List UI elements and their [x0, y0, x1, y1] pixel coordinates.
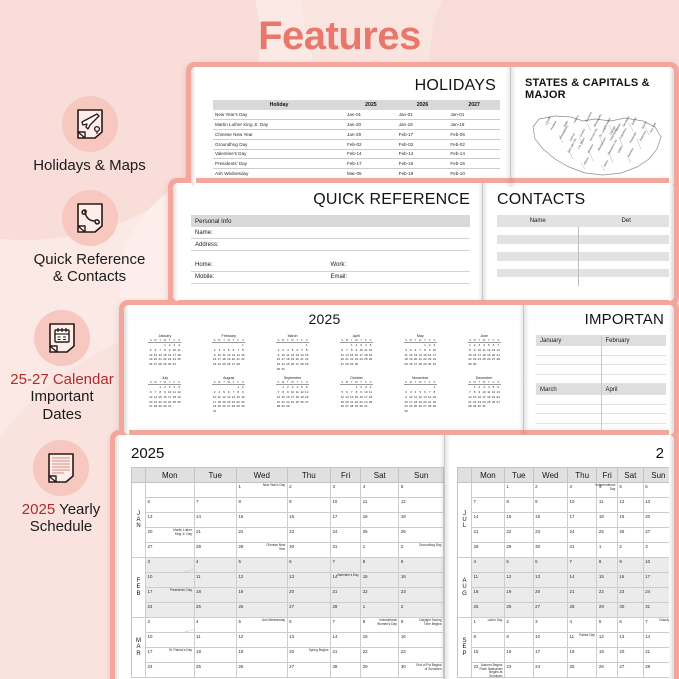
day-cell[interactable]: 28 — [568, 603, 597, 618]
mini-day-cell: 10 — [172, 348, 177, 353]
day-number: 10 — [148, 574, 153, 579]
entry-line[interactable] — [602, 414, 667, 424]
day-cell[interactable]: 11 — [194, 573, 236, 588]
day-cell[interactable]: 16 — [287, 513, 330, 528]
day-cell[interactable]: 5Ash Wednesday — [236, 618, 287, 633]
holidays-col-header: 2025 — [345, 100, 397, 110]
day-cell[interactable]: 25 — [194, 603, 236, 618]
day-cell[interactable]: 20Spring Begins — [287, 648, 330, 663]
day-cell[interactable]: 18 — [194, 648, 236, 663]
day-cell[interactable]: 8 — [504, 498, 533, 513]
day-cell[interactable]: 13 — [146, 513, 195, 528]
day-number: 14 — [570, 574, 575, 579]
day-cell[interactable]: 26 — [399, 528, 444, 543]
day-cell[interactable]: 9 — [287, 498, 330, 513]
contact-name-cell[interactable] — [497, 252, 578, 260]
day-cell[interactable]: 15 — [504, 513, 533, 528]
mini-day-cell: 19 — [408, 357, 413, 362]
mini-day-cell: 24 — [167, 399, 172, 404]
day-cell[interactable]: 26 — [504, 603, 533, 618]
page-holidays: HOLIDAYS Holiday202520262027 New Year's … — [191, 67, 511, 187]
states-capitals-title: STATES & CAPITALS & MAJOR — [525, 77, 666, 101]
mini-day-cell: 25 — [177, 357, 182, 362]
entry-line[interactable] — [536, 414, 601, 424]
field-label: Home: — [195, 262, 331, 268]
day-cell[interactable]: 17 — [330, 513, 360, 528]
day-cell[interactable]: 31 — [330, 543, 360, 558]
day-number: 19 — [599, 649, 604, 654]
important-month-header: March — [536, 384, 601, 395]
day-number: 21 — [474, 529, 479, 534]
contact-name-cell[interactable] — [497, 227, 578, 235]
day-cell[interactable]: 1 — [597, 543, 618, 558]
schedule-week-row: 17St. Patrick's Day181920Spring Begins21… — [132, 648, 444, 663]
day-cell[interactable] — [194, 483, 236, 498]
day-cell[interactable]: 29 — [504, 543, 533, 558]
day-number: 12 — [619, 499, 624, 504]
holidays-table: Holiday202520262027 New Year's DayJan-01… — [213, 100, 500, 187]
mini-day-cell: 10 — [477, 348, 482, 353]
day-cell[interactable]: 9 — [504, 633, 533, 648]
day-cell[interactable]: 25 — [568, 663, 597, 678]
day-cell[interactable]: 19 — [236, 588, 287, 603]
mini-day-cell: 20 — [304, 395, 309, 400]
month-column-header — [458, 468, 472, 483]
field-value[interactable] — [331, 230, 467, 236]
entry-line[interactable] — [536, 375, 601, 385]
day-cell[interactable]: 23 — [399, 648, 444, 663]
entry-line[interactable] — [536, 365, 601, 375]
day-cell[interactable]: 29 — [597, 603, 618, 618]
day-cell[interactable]: 15 — [236, 513, 287, 528]
day-cell[interactable]: 15 — [597, 573, 618, 588]
day-cell[interactable]: 13 — [533, 573, 567, 588]
day-cell[interactable]: 2 — [533, 483, 567, 498]
day-cell[interactable]: 6 — [533, 558, 567, 573]
contact-detail-cell[interactable] — [578, 227, 674, 235]
important-dates-cell: February — [601, 335, 667, 384]
field-value[interactable] — [331, 242, 467, 248]
day-cell[interactable]: 30End of Fst Begins of Sundown — [399, 663, 444, 678]
contact-name-cell[interactable] — [497, 261, 578, 269]
day-cell[interactable]: 10 — [330, 498, 360, 513]
day-cell[interactable]: 6 — [287, 618, 330, 633]
day-cell[interactable]: 17 — [568, 513, 597, 528]
day-number: 20 — [535, 589, 540, 594]
day-cell[interactable]: 28 — [194, 543, 236, 558]
day-cell[interactable]: 24 — [146, 663, 195, 678]
day-cell[interactable]: 18 — [194, 588, 236, 603]
day-cell[interactable]: 25 — [472, 603, 505, 618]
mini-day-cell: 28 — [153, 404, 158, 409]
day-event: Chinese New Year — [259, 544, 285, 551]
day-cell[interactable]: 9 — [399, 558, 444, 573]
schedule-week-row: 21222324252627 — [458, 528, 674, 543]
mini-week-row: 23242526272829 — [276, 362, 309, 367]
mini-month-name: September — [264, 376, 322, 380]
entry-line[interactable] — [602, 356, 667, 366]
day-cell[interactable]: 23 — [287, 528, 330, 543]
day-cell[interactable]: 13 — [287, 573, 330, 588]
day-cell[interactable]: 7 — [330, 558, 360, 573]
day-cell[interactable]: 22 — [236, 528, 287, 543]
day-number: 16 — [506, 649, 511, 654]
contact-name-cell[interactable] — [497, 269, 578, 277]
mini-day-cell: 23 — [427, 357, 432, 362]
day-cell[interactable]: 19 — [597, 648, 618, 663]
weekday-header: Sat — [361, 468, 399, 483]
day-cell[interactable]: 12 — [504, 573, 533, 588]
day-number: 12 — [238, 634, 243, 639]
entry-line[interactable] — [602, 346, 667, 356]
day-cell[interactable]: 5 — [504, 558, 533, 573]
day-cell[interactable]: 29 — [361, 663, 399, 678]
day-cell[interactable]: 3 — [330, 483, 360, 498]
mini-day-cell: 23 — [285, 399, 290, 404]
mini-day-cell: 17 — [477, 352, 482, 357]
holiday-date: Mar-05 — [345, 169, 397, 179]
day-cell[interactable]: 4 — [194, 558, 236, 573]
day-cell[interactable]: 18 — [472, 588, 505, 603]
day-cell[interactable]: 12 — [617, 498, 643, 513]
day-cell[interactable]: 15 — [361, 633, 399, 648]
day-cell[interactable]: 11 — [194, 633, 236, 648]
mini-day-cell: 24 — [172, 357, 177, 362]
mini-month-name: November — [391, 376, 449, 380]
day-cell[interactable]: 1New Year's Day — [236, 483, 287, 498]
day-cell[interactable]: 3 — [146, 558, 195, 573]
day-cell[interactable]: 29Chinese New Year — [236, 543, 287, 558]
day-number: 8 — [599, 559, 601, 564]
day-cell[interactable]: 10 — [146, 633, 195, 648]
day-number: 24 — [148, 664, 153, 669]
day-cell[interactable]: 26 — [236, 603, 287, 618]
important-dates-lines[interactable] — [536, 395, 601, 433]
map-city-label: Pittsburgh — [628, 131, 637, 144]
day-cell[interactable]: 12 — [236, 633, 287, 648]
important-dates-title: IMPORTAN — [536, 311, 666, 328]
mini-day-cell: 27 — [153, 362, 158, 367]
mini-day-cell: 21 — [468, 399, 473, 404]
day-number: 10 — [332, 499, 337, 504]
day-cell[interactable]: 14Valentine's Day — [330, 573, 360, 588]
day-cell[interactable]: 27 — [287, 663, 330, 678]
day-cell[interactable]: 27 — [146, 543, 195, 558]
page-yearly-schedule-left: 2025 MonTueWedThuFriSatSun JAN1New Year'… — [115, 435, 445, 679]
map-city-label: Phoenix — [586, 143, 594, 154]
day-cell[interactable]: 28 — [330, 663, 360, 678]
entry-line[interactable] — [602, 395, 667, 405]
day-cell[interactable]: 12 — [399, 498, 444, 513]
important-dates-cell: March — [536, 384, 601, 433]
day-cell[interactable]: 22 — [361, 648, 399, 663]
contact-detail-cell[interactable] — [578, 244, 674, 252]
day-cell[interactable]: 21 — [330, 588, 360, 603]
day-cell[interactable]: 18 — [361, 513, 399, 528]
table-row — [497, 261, 674, 269]
mini-day-cell: 29 — [349, 362, 354, 367]
mini-month-name: December — [455, 376, 513, 380]
entry-line[interactable] — [602, 405, 667, 415]
mini-day-cell: 15 — [349, 352, 354, 357]
day-cell[interactable]: 5 — [617, 483, 643, 498]
mini-day-cell: 11 — [482, 348, 487, 353]
contact-detail-cell[interactable] — [578, 269, 674, 277]
important-dates-lines[interactable] — [602, 346, 667, 384]
day-cell[interactable]: 18 — [597, 513, 618, 528]
day-cell[interactable]: 16 — [617, 573, 643, 588]
day-cell[interactable]: 28 — [472, 543, 505, 558]
page-edge-right — [669, 435, 674, 679]
day-event: Ash Wednesday — [262, 619, 285, 623]
contact-detail-cell[interactable] — [578, 235, 674, 243]
day-cell[interactable]: 10 — [533, 633, 567, 648]
entry-line[interactable] — [536, 346, 601, 356]
mini-day-cell: 22 — [432, 399, 437, 404]
day-cell[interactable]: 12 — [236, 573, 287, 588]
day-cell[interactable]: 14 — [330, 633, 360, 648]
day-cell[interactable]: 4Independence Day — [597, 483, 618, 498]
day-cell[interactable]: 23 — [617, 588, 643, 603]
day-cell[interactable]: 25 — [361, 528, 399, 543]
day-cell[interactable]: 8International Women's Day — [361, 618, 399, 633]
day-event: End of Fst Begins of Sundown — [416, 664, 442, 671]
day-cell[interactable]: 21 — [194, 528, 236, 543]
day-cell[interactable]: 1 — [361, 603, 399, 618]
day-cell[interactable]: 27 — [287, 603, 330, 618]
day-cell[interactable]: 25 — [194, 663, 236, 678]
important-dates-lines[interactable] — [536, 346, 601, 384]
entry-line[interactable] — [536, 395, 601, 405]
day-cell[interactable]: 16 — [399, 573, 444, 588]
day-cell[interactable]: 8 — [236, 498, 287, 513]
day-cell[interactable]: 15 — [472, 648, 505, 663]
day-cell[interactable]: 5 — [597, 618, 618, 633]
day-cell[interactable]: 23 — [504, 663, 533, 678]
day-cell[interactable]: 4 — [568, 618, 597, 633]
day-cell[interactable]: 22 — [504, 528, 533, 543]
day-number: 16 — [401, 574, 406, 579]
mini-day-cell: 14 — [236, 352, 241, 357]
day-cell[interactable]: 22 — [361, 588, 399, 603]
contact-detail-cell[interactable] — [578, 261, 674, 269]
day-cell[interactable]: 6 — [146, 498, 195, 513]
day-cell[interactable]: 5 — [399, 483, 444, 498]
day-cell[interactable]: 17 — [533, 648, 567, 663]
mini-day-cell: 21 — [345, 357, 350, 362]
day-cell[interactable]: 8 — [472, 633, 505, 648]
holiday-name: New Year's Day — [213, 110, 345, 119]
day-cell[interactable]: 16 — [399, 633, 444, 648]
day-cell[interactable]: 17St. Patrick's Day — [146, 648, 195, 663]
day-number: 1 — [474, 619, 476, 624]
day-number: 9 — [401, 619, 403, 624]
day-cell[interactable]: 14 — [568, 573, 597, 588]
day-cell[interactable]: 15 — [361, 573, 399, 588]
day-cell[interactable]: 4 — [472, 558, 505, 573]
entry-line[interactable] — [602, 375, 667, 385]
mini-week-row: 3031 — [276, 366, 309, 371]
day-cell[interactable]: 26 — [597, 663, 618, 678]
day-cell[interactable]: 21 — [472, 528, 505, 543]
day-cell[interactable]: 21 — [568, 588, 597, 603]
mini-month: DecemberSMTWTFS1234567891011121314151617… — [455, 376, 513, 413]
day-cell[interactable]: 20 — [533, 588, 567, 603]
day-cell[interactable]: 2 — [504, 618, 533, 633]
day-cell[interactable]: 9Daylight Saving Time Begins — [399, 618, 444, 633]
day-number: 24 — [570, 529, 575, 534]
mini-day-cell: 18 — [486, 395, 491, 400]
mini-day-cell: 29 — [163, 362, 168, 367]
day-cell[interactable]: 9 — [533, 498, 567, 513]
day-cell[interactable]: 14 — [472, 513, 505, 528]
day-cell[interactable]: 19 — [399, 513, 444, 528]
entry-line[interactable] — [536, 356, 601, 366]
day-cell[interactable]: 19 — [504, 588, 533, 603]
entry-line[interactable] — [602, 365, 667, 375]
day-cell[interactable]: 25 — [597, 528, 618, 543]
day-cell[interactable]: 6 — [287, 558, 330, 573]
day-cell[interactable]: 8 — [597, 558, 618, 573]
day-cell[interactable]: 16 — [504, 648, 533, 663]
day-cell[interactable]: 1 — [504, 483, 533, 498]
day-cell[interactable]: 14 — [194, 513, 236, 528]
day-cell[interactable]: 8 — [361, 558, 399, 573]
day-cell[interactable]: 13 — [287, 633, 330, 648]
day-cell[interactable]: 3 — [533, 618, 567, 633]
day-cell[interactable]: 5 — [236, 558, 287, 573]
page-quick-reference: QUICK REFERENCE Personal Info Name:Addre… — [173, 183, 483, 301]
month-label: MAR — [132, 618, 146, 678]
day-cell[interactable]: 12 — [597, 633, 618, 648]
important-dates-lines[interactable] — [602, 395, 667, 433]
day-cell[interactable]: 19 — [236, 648, 287, 663]
day-cell[interactable]: 3 — [568, 483, 597, 498]
day-cell[interactable]: 2Groundhog Day — [399, 543, 444, 558]
day-cell[interactable]: 27 — [533, 603, 567, 618]
day-cell[interactable]: 30 — [287, 543, 330, 558]
contact-name-cell[interactable] — [497, 235, 578, 243]
day-number: 19 — [238, 649, 243, 654]
day-cell[interactable]: 11 — [597, 498, 618, 513]
day-cell[interactable]: 7 — [472, 498, 505, 513]
day-cell[interactable]: 24 — [533, 663, 567, 678]
day-cell[interactable]: 2 — [287, 483, 330, 498]
day-cell[interactable]: 20 — [287, 588, 330, 603]
mini-day-cell: 28 — [345, 362, 350, 367]
day-number: 22 — [506, 529, 511, 534]
day-cell[interactable]: 4 — [194, 618, 236, 633]
day-number: 21 — [570, 589, 575, 594]
day-cell[interactable]: 19 — [617, 513, 643, 528]
day-cell[interactable]: 30 — [533, 543, 567, 558]
month-letter: G — [460, 591, 470, 597]
mini-day-cell: 22 — [354, 399, 359, 404]
day-cell[interactable]: 30 — [617, 603, 643, 618]
day-number: 17 — [148, 589, 153, 594]
day-number: 26 — [619, 529, 624, 534]
day-cell[interactable]: 7 — [194, 498, 236, 513]
day-cell[interactable]: 7 — [330, 618, 360, 633]
day-cell[interactable]: 13 — [617, 633, 643, 648]
day-cell[interactable]: 23 — [399, 588, 444, 603]
day-number: 31 — [570, 544, 575, 549]
mini-day-cell — [496, 404, 501, 409]
day-number: 30 — [535, 544, 540, 549]
day-cell[interactable]: 23 — [533, 528, 567, 543]
day-cell[interactable]: 2 — [617, 543, 643, 558]
feature-item-holidays-maps: Holidays & Maps — [2, 96, 177, 174]
day-cell[interactable]: 10 — [568, 498, 597, 513]
day-cell[interactable]: 10 — [146, 573, 195, 588]
day-event: Daylight Saving Time Begins — [416, 619, 442, 626]
day-cell[interactable]: 1 — [361, 543, 399, 558]
contact-detail-cell[interactable] — [578, 252, 674, 260]
day-number: 26 — [238, 664, 243, 669]
day-cell[interactable]: 20Martin Luther King Jr. Day — [146, 528, 195, 543]
day-cell[interactable]: 20 — [617, 648, 643, 663]
mini-day-cell: 20 — [413, 357, 418, 362]
mini-day-cell: 10 — [432, 348, 437, 353]
day-cell[interactable]: 26 — [236, 663, 287, 678]
day-cell[interactable]: 9 — [617, 558, 643, 573]
day-cell[interactable]: 1Labor Day — [472, 618, 505, 633]
day-cell[interactable]: 22 — [597, 588, 618, 603]
day-cell[interactable]: 11 — [361, 498, 399, 513]
day-cell[interactable]: 27 — [617, 663, 643, 678]
mini-month: JulySMTWTFS12345678910111213141516171819… — [136, 376, 194, 413]
day-cell[interactable]: 6 — [617, 618, 643, 633]
day-cell[interactable]: 28 — [330, 603, 360, 618]
day-number: 27 — [289, 664, 294, 669]
mini-day-cell: 22 — [423, 357, 428, 362]
day-cell[interactable]: 24 — [568, 528, 597, 543]
mini-day-cell: 18 — [295, 395, 300, 400]
day-cell[interactable]: 24 — [330, 528, 360, 543]
schedule-week-row: 13141516171819 — [132, 513, 444, 528]
day-number: 10 — [535, 634, 540, 639]
day-cell[interactable]: 26 — [617, 528, 643, 543]
day-cell[interactable] — [146, 483, 195, 498]
mini-day-cell: 30 — [477, 404, 482, 409]
entry-line[interactable] — [536, 405, 601, 415]
day-cell[interactable]: 24 — [146, 603, 195, 618]
day-cell[interactable]: 21 — [330, 648, 360, 663]
day-cell[interactable]: 17Presidents' Day — [146, 588, 195, 603]
book-spread-yearly-schedule: 2025 MonTueWedThuFriSatSun JAN1New Year'… — [110, 430, 679, 679]
day-cell[interactable]: 31 — [568, 543, 597, 558]
mini-day-cell: 22 — [472, 399, 477, 404]
day-cell[interactable]: 11 — [472, 573, 505, 588]
map-city-label: Boston — [640, 120, 648, 129]
contact-detail-cell[interactable] — [578, 277, 674, 285]
day-cell[interactable]: 7 — [568, 558, 597, 573]
day-cell[interactable]: 4 — [361, 483, 399, 498]
table-row — [497, 277, 674, 285]
day-cell[interactable]: 16 — [533, 513, 567, 528]
day-cell[interactable] — [472, 483, 505, 498]
day-cell[interactable]: 11Patriot Day — [568, 633, 597, 648]
day-cell[interactable]: 18 — [568, 648, 597, 663]
day-cell[interactable]: 3 — [146, 618, 195, 633]
mini-month-table: SMTWTFS123456789101112131415161718192021… — [276, 381, 309, 408]
contact-name-cell[interactable] — [497, 277, 578, 285]
mini-week-row: 12131415161718 — [148, 352, 181, 357]
mini-day-cell: 18 — [217, 399, 222, 404]
day-cell[interactable]: 22Autumn Begins Rosh Hashanah Begins at … — [472, 663, 505, 678]
contact-name-cell[interactable] — [497, 244, 578, 252]
day-cell[interactable]: 2 — [399, 603, 444, 618]
